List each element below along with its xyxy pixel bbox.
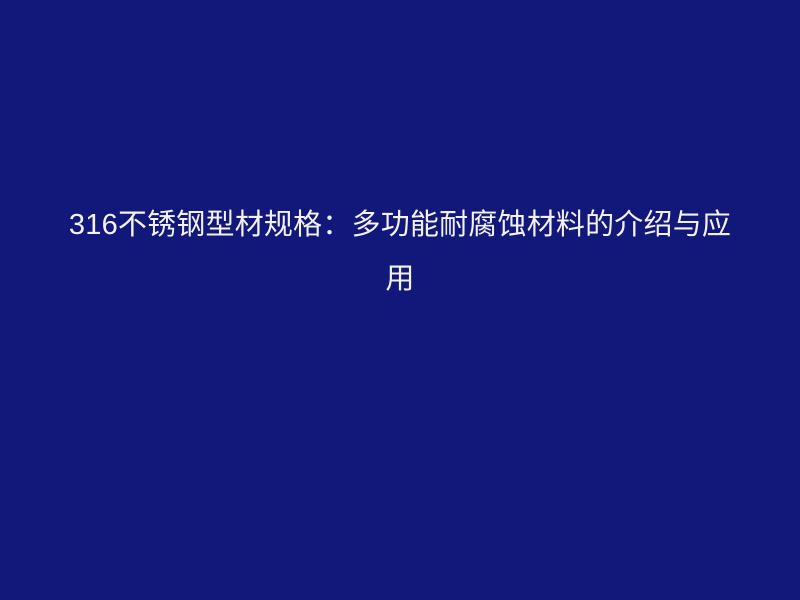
title-card: 316不锈钢型材规格：多功能耐腐蚀材料的介绍与应用 bbox=[0, 0, 800, 600]
page-title: 316不锈钢型材规格：多功能耐腐蚀材料的介绍与应用 bbox=[56, 198, 744, 306]
title-block: 316不锈钢型材规格：多功能耐腐蚀材料的介绍与应用 bbox=[50, 198, 750, 306]
